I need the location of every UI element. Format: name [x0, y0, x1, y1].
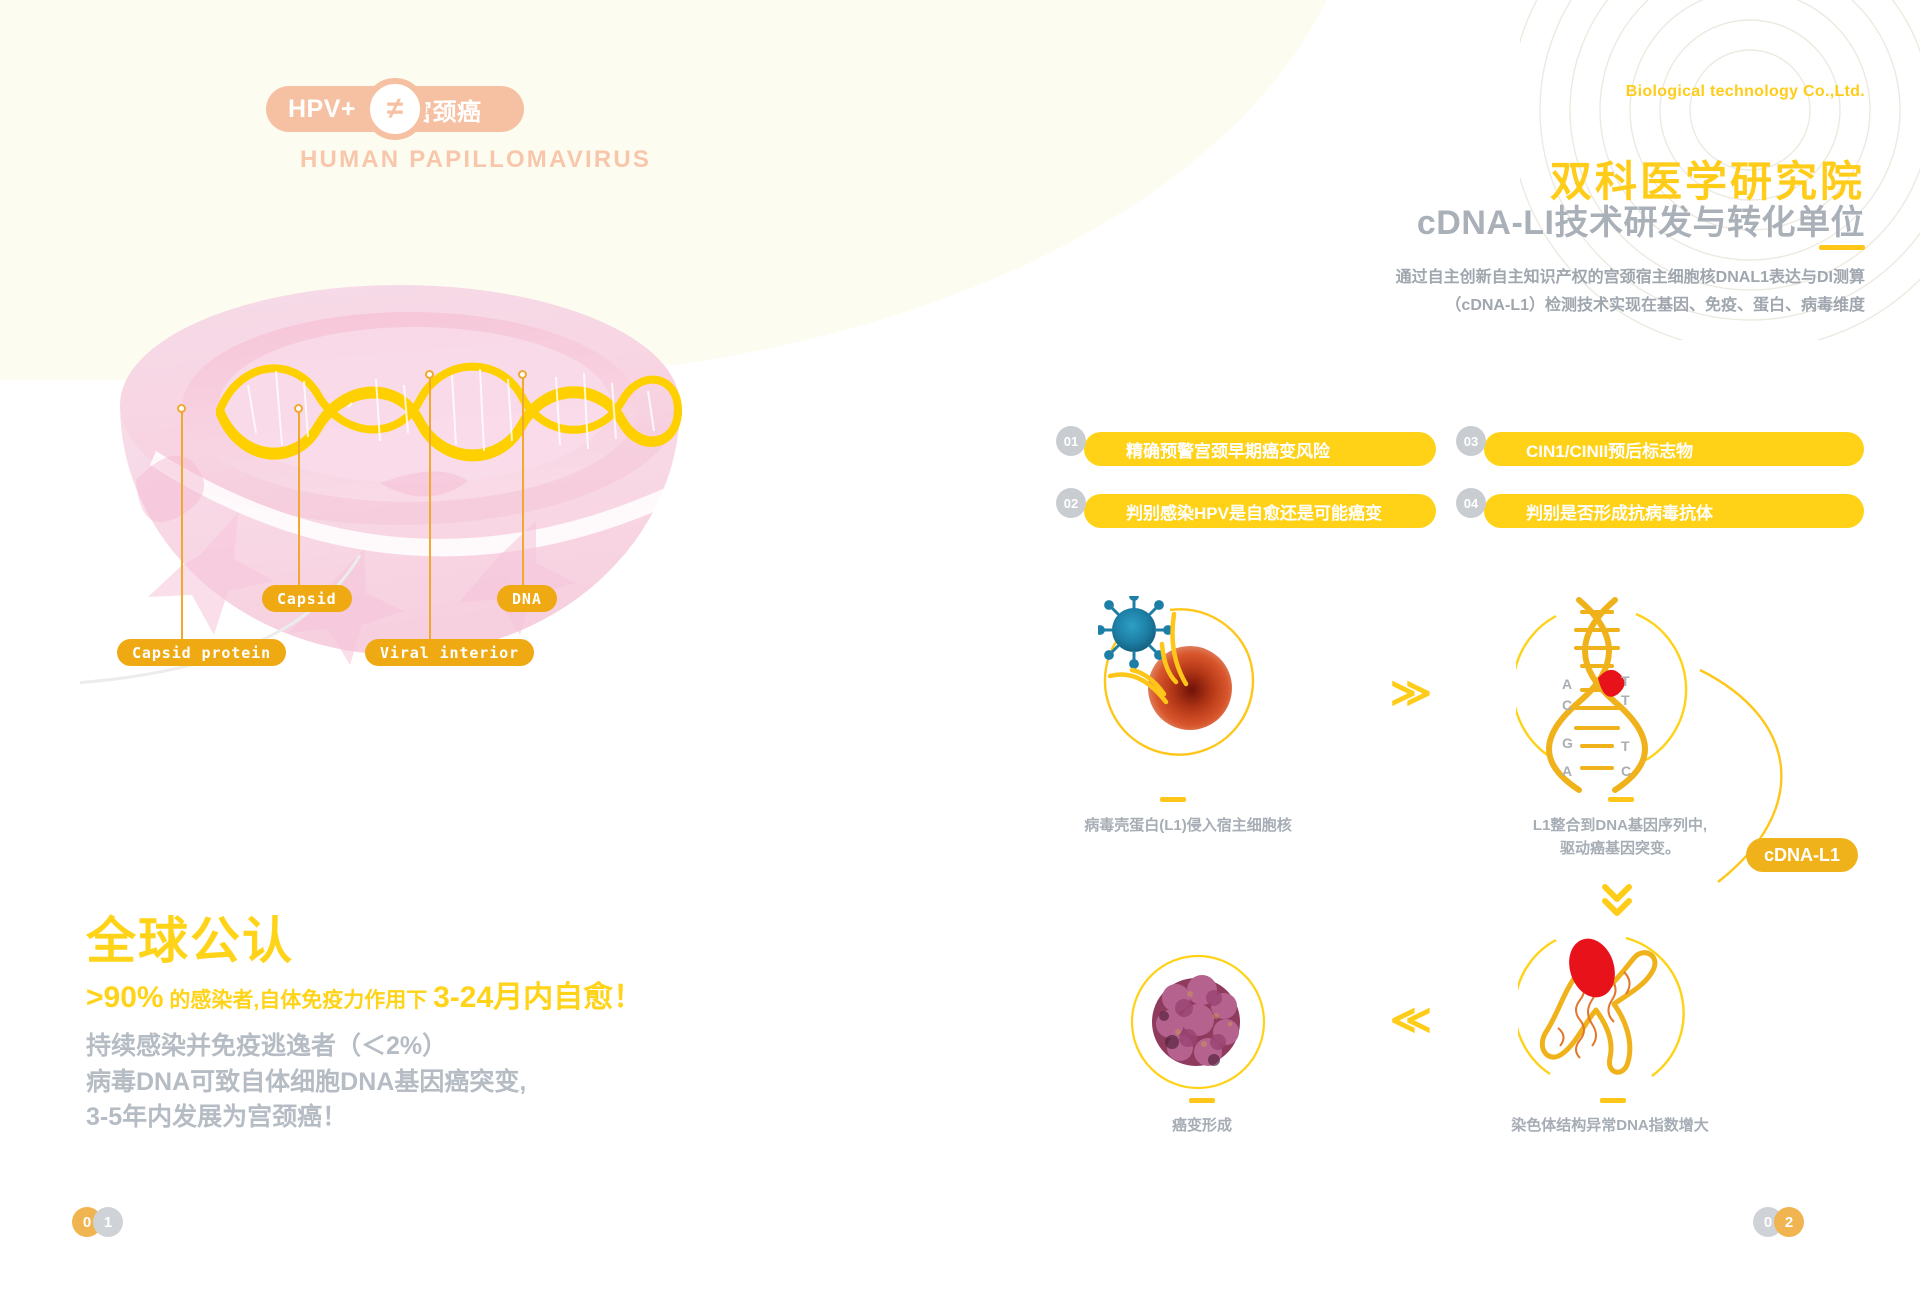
- callout-tag-viral-interior: Viral interior: [365, 639, 534, 666]
- chevron-down-icon: [1600, 882, 1634, 925]
- page-number-right-second: 2: [1774, 1207, 1804, 1237]
- organization-description: 通过自主创新自主知识产权的宫颈宿主细胞核DNAL1表达与DI测算 （cDNA-L…: [1396, 264, 1865, 320]
- callout-line-capsid: [298, 412, 300, 585]
- page-number-right: 0 2: [1753, 1207, 1804, 1237]
- feature-badge-01-bar: 精确预警宫颈早期癌变风险: [1084, 432, 1436, 466]
- virus-illustration: [80, 255, 800, 695]
- chevron-down-glyph: [1600, 882, 1634, 918]
- feature-badge-04-number: 04: [1456, 488, 1486, 518]
- paragraph-persistent-infection: 持续感染并免疫逃逸者（＜2%） 病毒DNA可致自体细胞DNA基因癌突变, 3-5…: [86, 1029, 526, 1136]
- step3-tumor-illustration: [1118, 946, 1288, 1106]
- step3-caption: 癌变形成: [1082, 1114, 1322, 1137]
- dna-base-left-3: G: [1562, 735, 1573, 751]
- step1-caption-rule: [1160, 797, 1186, 802]
- page-number-left: 0 1: [72, 1207, 123, 1237]
- dna-base-right-1: T: [1621, 673, 1630, 689]
- title-divider: [1819, 245, 1865, 250]
- step1-caption: 病毒壳蛋白(L1)侵入宿主细胞核: [1068, 814, 1308, 837]
- headline-global: 全球公认: [86, 901, 294, 973]
- feature-badge-03-number: 03: [1456, 426, 1486, 456]
- step1-virus-invasion-illustration: [1098, 596, 1270, 764]
- page-number-left-second: 1: [93, 1207, 123, 1237]
- callout-tag-capsid-protein: Capsid protein: [117, 639, 286, 666]
- dna-base-right-3: T: [1621, 738, 1630, 754]
- hpv-badge-prefix: HPV+: [288, 95, 356, 124]
- stat-middle-text: 的感染者,自体免疫力作用下: [164, 989, 434, 1012]
- chevron-right-icon: ≫: [1390, 673, 1432, 713]
- callout-line-viral-interior: [429, 378, 431, 639]
- callout-tag-dna: DNA: [497, 585, 557, 612]
- chevron-left-icon: ≪: [1390, 1000, 1432, 1040]
- dna-base-left-2: C: [1562, 697, 1572, 713]
- stat-duration: 3-24月内自愈！: [433, 981, 643, 1014]
- callout-line-dna: [522, 378, 524, 585]
- step4-chromosome-illustration: [1518, 928, 1714, 1118]
- step2-caption-rule: [1608, 797, 1634, 802]
- dna-base-left-4: A: [1562, 763, 1572, 779]
- feature-badge-02-number: 02: [1056, 488, 1086, 518]
- stat-line: >90% 的感染者,自体免疫力作用下 3-24月内自愈！: [86, 972, 643, 1016]
- step4-caption-rule: [1600, 1098, 1626, 1103]
- company-name: Biological technology Co.,Ltd.: [1626, 83, 1865, 101]
- hpv-subtitle: HUMAN PAPILLOMAVIRUS: [300, 146, 651, 174]
- not-equal-icon: ≠: [364, 78, 426, 140]
- stat-percent: >90%: [86, 981, 164, 1014]
- feature-badge-01-number: 01: [1056, 426, 1086, 456]
- feature-badge-04-label: 判别是否形成抗病毒抗体: [1526, 499, 1713, 524]
- feature-badge-03-label: CIN1/CINII预后标志物: [1526, 437, 1693, 462]
- cdna-l1-tag: cDNA-L1: [1746, 838, 1858, 872]
- callout-tag-capsid: Capsid: [262, 585, 352, 612]
- dna-base-left-1: A: [1562, 676, 1572, 692]
- feature-badge-02-bar: 判别感染HPV是自愈还是可能癌变: [1084, 494, 1436, 528]
- step4-caption: 染色体结构异常DNA指数增大: [1490, 1114, 1730, 1137]
- dna-base-right-4: C: [1621, 763, 1631, 779]
- infographic-page: HPV+ 宫颈癌 ≠ HUMAN PAPILLOMAVIRUS: [0, 0, 1920, 1303]
- step3-caption-rule: [1189, 1098, 1215, 1103]
- organization-subtitle: cDNA-LI技术研发与转化单位: [1417, 195, 1865, 244]
- feature-badge-04-bar: 判别是否形成抗病毒抗体: [1484, 494, 1864, 528]
- feature-badge-03-bar: CIN1/CINII预后标志物: [1484, 432, 1864, 466]
- feature-badge-02-label: 判别感染HPV是自愈还是可能癌变: [1126, 499, 1382, 524]
- feature-badge-01-label: 精确预警宫颈早期癌变风险: [1126, 437, 1330, 462]
- callout-line-capsid-protein: [181, 412, 183, 639]
- dna-base-right-2: T: [1621, 692, 1630, 708]
